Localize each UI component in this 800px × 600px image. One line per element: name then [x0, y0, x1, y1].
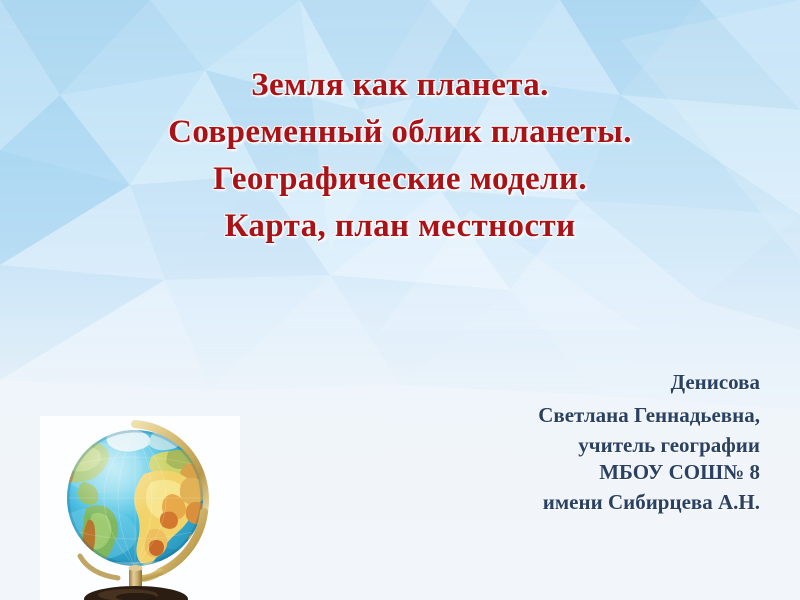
- author-surname: Денисова: [330, 366, 760, 399]
- title-slide: Земля как планета. Современный облик пла…: [0, 0, 800, 600]
- slide-title: Земля как планета. Современный облик пла…: [60, 62, 740, 250]
- author-role: учитель географии: [330, 432, 760, 459]
- title-line-2: Современный облик планеты.: [60, 109, 740, 156]
- author-credit: Денисова Светлана Геннадьевна, учитель г…: [330, 366, 760, 519]
- author-school-name: имени Сибирцева А.Н.: [330, 486, 760, 519]
- author-given-name: Светлана Геннадьевна,: [330, 399, 760, 432]
- globe-image: [40, 416, 240, 600]
- title-line-3: Географические модели.: [60, 156, 740, 203]
- title-line-1: Земля как планета.: [60, 62, 740, 109]
- author-school: МБОУ СОШ№ 8: [330, 459, 760, 486]
- title-line-4: Карта, план местности: [60, 203, 740, 250]
